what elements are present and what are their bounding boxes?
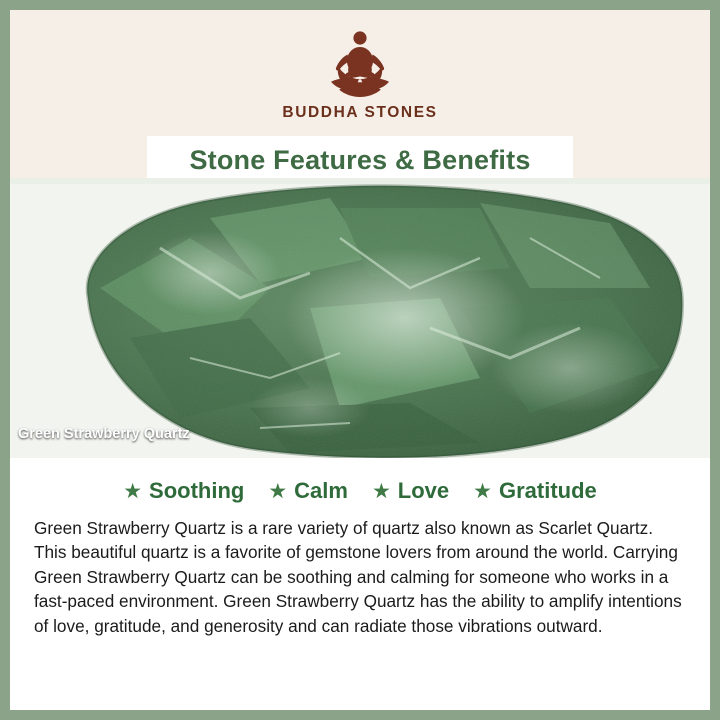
content-panel: ★ Soothing ★ Calm ★ Love ★ Gratitude Gre… [10,458,710,710]
star-icon: ★ [473,481,492,502]
brand-name: BUDDHA STONES [282,104,437,122]
benefit-label: Soothing [149,478,244,504]
star-icon: ★ [123,481,142,502]
benefit-label: Love [398,478,449,504]
page-title: Stone Features & Benefits [189,145,530,176]
star-icon: ★ [372,481,391,502]
poster-root: BUDDHA STONES Stone Features & Benefits [0,0,720,720]
stone-photo: Green Strawberry Quartz [10,178,710,458]
benefit-label: Calm [294,478,348,504]
header: BUDDHA STONES Stone Features & Benefits [10,10,710,178]
brand-logo: BUDDHA STONES [10,26,710,122]
benefit-keywords: ★ Soothing ★ Calm ★ Love ★ Gratitude [10,458,710,504]
benefit-item: ★ Soothing [123,478,244,504]
benefit-item: ★ Love [372,478,449,504]
benefit-item: ★ Calm [268,478,348,504]
poster-card: BUDDHA STONES Stone Features & Benefits [10,10,710,710]
benefit-item: ★ Gratitude [473,478,597,504]
star-icon: ★ [268,481,287,502]
description-text: Green Strawberry Quartz is a rare variet… [34,516,686,638]
benefit-label: Gratitude [499,478,597,504]
lotus-meditation-figure-icon [285,26,435,100]
photo-caption: Green Strawberry Quartz [18,426,190,442]
